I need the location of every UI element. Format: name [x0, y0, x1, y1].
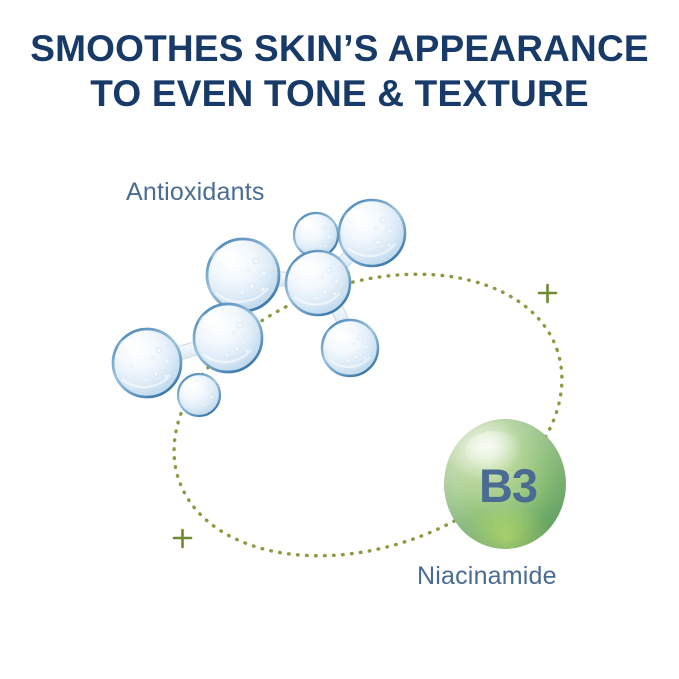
atom-1 — [113, 329, 181, 397]
atom-3 — [178, 374, 220, 416]
antioxidants-label: Antioxidants — [126, 178, 265, 207]
plus-bottom-left-icon — [174, 530, 191, 547]
plus-top-right-icon — [539, 285, 556, 302]
atom-5 — [286, 251, 350, 315]
niacinamide-label: Niacinamide — [417, 562, 557, 591]
niacinamide-sphere-label: B3 — [444, 419, 566, 549]
ingredient-diagram — [0, 0, 679, 679]
molecule-atoms — [113, 200, 405, 416]
promo-graphic: SMOOTHES SKIN’S APPEARANCE TO EVEN TONE … — [0, 0, 679, 679]
atom-2 — [194, 304, 262, 372]
atom-8 — [322, 320, 378, 376]
atom-7 — [339, 200, 405, 266]
atom-4 — [207, 239, 279, 311]
